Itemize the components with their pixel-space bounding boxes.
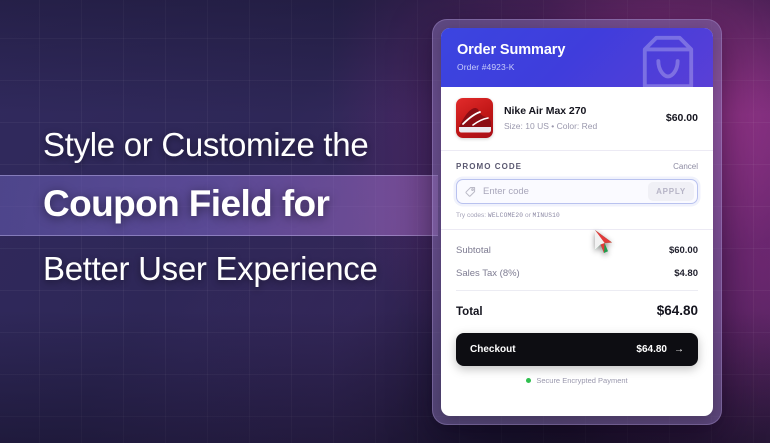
subtotal-value: $60.00 bbox=[669, 245, 698, 256]
headline: Style or Customize the Coupon Field for … bbox=[0, 118, 438, 295]
page-title: Order Summary bbox=[457, 42, 697, 58]
subtotal-label: Subtotal bbox=[456, 245, 491, 256]
promo-hint-separator: or bbox=[525, 212, 531, 219]
grand-total-value: $64.80 bbox=[657, 303, 698, 318]
totals-divider bbox=[456, 290, 698, 291]
headline-line-3: Better User Experience bbox=[0, 236, 438, 295]
product-name: Nike Air Max 270 bbox=[504, 105, 655, 117]
checkout-button[interactable]: Checkout $64.80 → bbox=[456, 333, 698, 366]
promo-code-input[interactable] bbox=[476, 186, 648, 197]
promo-hint: Try codes: WELCOME20 or MINUS10 bbox=[456, 212, 698, 219]
checkout-label: Checkout bbox=[470, 344, 516, 355]
tag-icon bbox=[465, 186, 476, 197]
headline-line-1: Style or Customize the bbox=[0, 118, 438, 175]
promo-section: PROMO CODE Cancel APPLY Try codes: WELCO… bbox=[441, 151, 713, 230]
grand-total-label: Total bbox=[456, 306, 483, 318]
total-row-grand: Total $64.80 bbox=[456, 300, 698, 327]
promo-hint-code-1: WELCOME20 bbox=[488, 212, 523, 219]
arrow-right-icon: → bbox=[674, 345, 684, 355]
order-summary-card-frame: Order Summary Order #4923-K Nike Air Max… bbox=[432, 19, 722, 425]
secure-payment-text: Secure Encrypted Payment bbox=[536, 376, 627, 385]
order-summary-card: Order Summary Order #4923-K Nike Air Max… bbox=[441, 28, 713, 416]
total-row-subtotal: Subtotal $60.00 bbox=[456, 242, 698, 265]
order-id: Order #4923-K bbox=[457, 62, 697, 72]
apply-coupon-button[interactable]: APPLY bbox=[648, 182, 694, 201]
checkout-right: $64.80 → bbox=[636, 344, 684, 355]
tax-label: Sales Tax (8%) bbox=[456, 268, 520, 279]
tax-value: $4.80 bbox=[674, 268, 698, 279]
headline-highlight-band: Coupon Field for bbox=[0, 175, 438, 236]
promo-header: PROMO CODE Cancel bbox=[456, 162, 698, 171]
product-row[interactable]: Nike Air Max 270 Size: 10 US • Color: Re… bbox=[441, 87, 713, 151]
promo-hint-prefix: Try codes: bbox=[456, 212, 486, 219]
headline-line-2: Coupon Field for bbox=[0, 185, 438, 222]
green-dot-icon bbox=[526, 378, 531, 383]
checkout-amount: $64.80 bbox=[636, 344, 667, 355]
product-info: Nike Air Max 270 Size: 10 US • Color: Re… bbox=[504, 105, 655, 131]
totals-section: Subtotal $60.00 Sales Tax (8%) $4.80 Tot… bbox=[441, 230, 713, 327]
product-meta: Size: 10 US • Color: Red bbox=[504, 121, 655, 131]
card-header: Order Summary Order #4923-K bbox=[441, 28, 713, 87]
sneaker-icon bbox=[456, 98, 493, 138]
promo-hint-code-2: MINUS10 bbox=[533, 212, 560, 219]
promo-code-label: PROMO CODE bbox=[456, 162, 522, 171]
total-row-tax: Sales Tax (8%) $4.80 bbox=[456, 265, 698, 288]
checkout-section: Checkout $64.80 → Secure Encrypted Payme… bbox=[441, 327, 713, 385]
secure-payment-note: Secure Encrypted Payment bbox=[456, 366, 698, 385]
promo-cancel-link[interactable]: Cancel bbox=[673, 162, 698, 171]
shopping-bag-icon bbox=[637, 32, 699, 87]
product-price: $60.00 bbox=[666, 112, 698, 124]
promo-code-field[interactable]: APPLY bbox=[456, 179, 698, 204]
